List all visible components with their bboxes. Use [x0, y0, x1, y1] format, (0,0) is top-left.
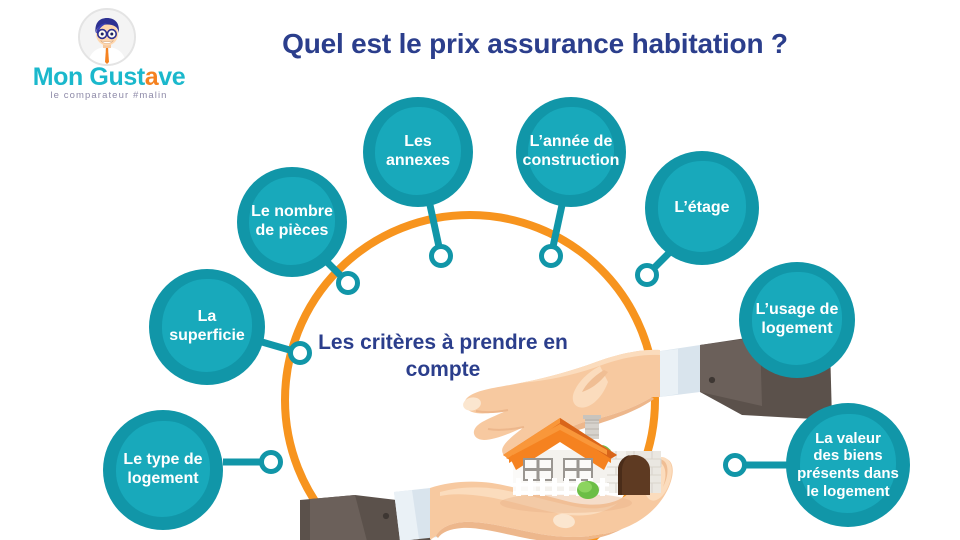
criteria-bubble-le-type-de-logement[interactable]: Le type de logement [103, 410, 223, 530]
criteria-bubble-lannee-de-construction[interactable]: L’année de construction [516, 97, 626, 207]
infographic-canvas: Mon Gustave le comparateur #malin Quel e… [0, 0, 960, 540]
criteria-label-le-nombre-de-pieces: Le nombre de pièces [245, 203, 339, 241]
criteria-label-la-superficie: La superficie [163, 308, 251, 346]
criteria-label-lannee-de-construction: L’année de construction [517, 133, 626, 171]
criteria-bubble-les-annexes[interactable]: Les annexes [363, 97, 473, 207]
criteria-bubble-letage[interactable]: L’étage [645, 151, 759, 265]
criteria-bubble-la-superficie[interactable]: La superficie [149, 269, 265, 385]
criteria-label-letage: L’étage [668, 199, 735, 218]
criteria-bubble-le-nombre-de-pieces[interactable]: Le nombre de pièces [237, 167, 347, 277]
criteria-label-le-type-de-logement: Le type de logement [117, 451, 208, 489]
criteria-label-la-valeur-des-biens: La valeur des biens présents dans le log… [791, 430, 905, 501]
criteria-label-les-annexes: Les annexes [380, 133, 456, 171]
house-window-left [523, 458, 553, 481]
criteria-label-lusage-de-logement: L’usage de logement [750, 301, 845, 339]
criteria-bubble-la-valeur-des-biens[interactable]: La valeur des biens présents dans le log… [786, 403, 910, 527]
house-window-right [563, 458, 593, 481]
criteria-bubble-lusage-de-logement[interactable]: L’usage de logement [739, 262, 855, 378]
